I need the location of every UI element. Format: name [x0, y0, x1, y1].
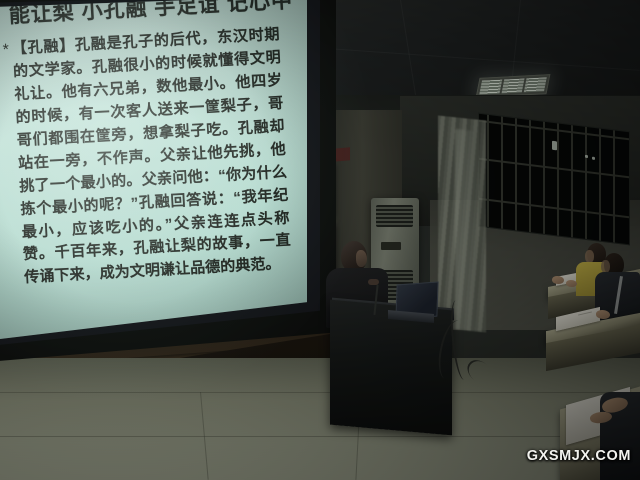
- floor-tile-line: [0, 436, 640, 437]
- student-hand: [596, 310, 610, 319]
- window-bar: [501, 113, 503, 241]
- window-bar: [529, 114, 531, 244]
- window-bar: [599, 123, 601, 246]
- window-bar: [515, 113, 517, 243]
- window-bar: [557, 117, 559, 245]
- floor-tile-line: [0, 392, 640, 393]
- slide-body-wrap: * 【孔融】孔融是孔子的后代，东汉时期的文学家。孔融很小的时候就懂得文明礼让。他…: [2, 23, 307, 291]
- slide-body-text: 【孔融】孔融是孔子的后代，东汉时期的文学家。孔融很小的时候就懂得文明礼让。他有六…: [11, 24, 292, 290]
- window-bar: [571, 119, 573, 245]
- window-light-glint: [592, 157, 595, 160]
- projection-screen: 能让梨 小孔融 手足谊 记心中 * 【孔融】孔融是孔子的后代，东汉时期的文学家。…: [0, 0, 307, 340]
- ac-control-panel: [381, 242, 401, 250]
- classroom-photo-scene: 能让梨 小孔融 手足谊 记心中 * 【孔融】孔融是孔子的后代，东汉时期的文学家。…: [0, 0, 640, 480]
- window-light-glint: [585, 155, 588, 158]
- desk-microphone: [368, 279, 379, 285]
- window-light-glint: [552, 141, 557, 151]
- presenter-face: [356, 250, 367, 267]
- light-tube: [479, 80, 502, 95]
- window-bar: [585, 121, 587, 246]
- student-hand: [552, 276, 564, 284]
- ac-top-grille: [376, 205, 413, 227]
- light-tube: [502, 78, 525, 93]
- light-tube: [524, 77, 547, 92]
- barred-window: [478, 113, 630, 246]
- window-bar: [487, 113, 489, 239]
- window-bar: [613, 124, 615, 245]
- watermark: GXSMJX.COM: [527, 448, 631, 464]
- window-bar: [543, 116, 545, 246]
- student-hand: [566, 280, 577, 287]
- slide-content: 能让梨 小孔融 手足谊 记心中 * 【孔融】孔融是孔子的后代，东汉时期的文学家。…: [0, 0, 307, 291]
